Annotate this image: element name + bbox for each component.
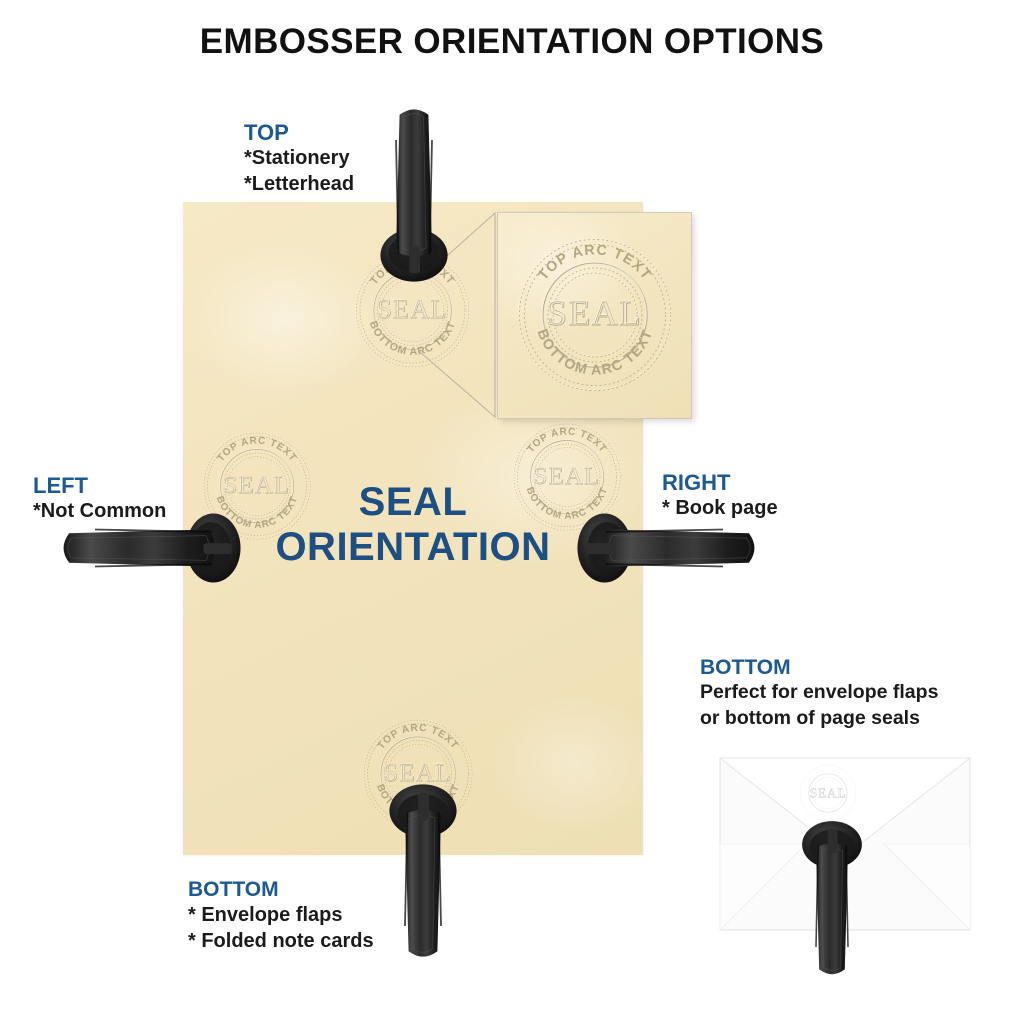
callout-bottom-left-line-2: * Folded note cards (188, 928, 374, 954)
callout-bottom-left: BOTTOM * Envelope flaps * Folded note ca… (188, 877, 374, 954)
callout-left-heading: LEFT (33, 473, 166, 499)
center-label-line1: SEAL (359, 480, 468, 524)
callout-left: LEFT *Not Common (33, 473, 166, 525)
embosser-right[interactable] (575, 511, 760, 585)
callout-right-line-1: * Book page (662, 496, 778, 522)
callout-right-heading: RIGHT (662, 470, 778, 496)
callout-top-heading: TOP (244, 120, 354, 146)
callout-bottom-right-line-1: Perfect for envelope flaps (700, 680, 938, 706)
callout-right: RIGHT * Book page (662, 470, 778, 522)
seal-impression-envelope (797, 762, 859, 824)
callout-bottom-left-line-1: * Envelope flaps (188, 902, 374, 928)
callout-bottom-left-heading: BOTTOM (188, 877, 374, 902)
center-seal-orientation-label: SEAL ORIENTATION (183, 480, 643, 570)
embosser-top[interactable] (378, 104, 450, 284)
page-title: EMBOSSER ORIENTATION OPTIONS (0, 22, 1024, 62)
infographic-canvas: EMBOSSER ORIENTATION OPTIONS (0, 0, 1024, 1024)
seal-impression-magnified (511, 231, 679, 399)
callout-top-line-2: *Letterhead (244, 172, 354, 198)
embosser-envelope[interactable] (800, 818, 864, 980)
callout-bottom-right: BOTTOM Perfect for envelope flaps or bot… (700, 655, 938, 732)
magnifier-inset (497, 212, 692, 419)
center-label-line2: ORIENTATION (183, 525, 643, 570)
callout-top-line-1: *Stationery (244, 146, 354, 172)
callout-bottom-right-line-2: or bottom of page seals (700, 706, 938, 732)
embosser-bottom[interactable] (387, 782, 459, 962)
callout-left-line-1: *Not Common (33, 499, 166, 525)
callout-top: TOP *Stationery *Letterhead (244, 120, 354, 197)
callout-bottom-right-heading: BOTTOM (700, 655, 938, 680)
